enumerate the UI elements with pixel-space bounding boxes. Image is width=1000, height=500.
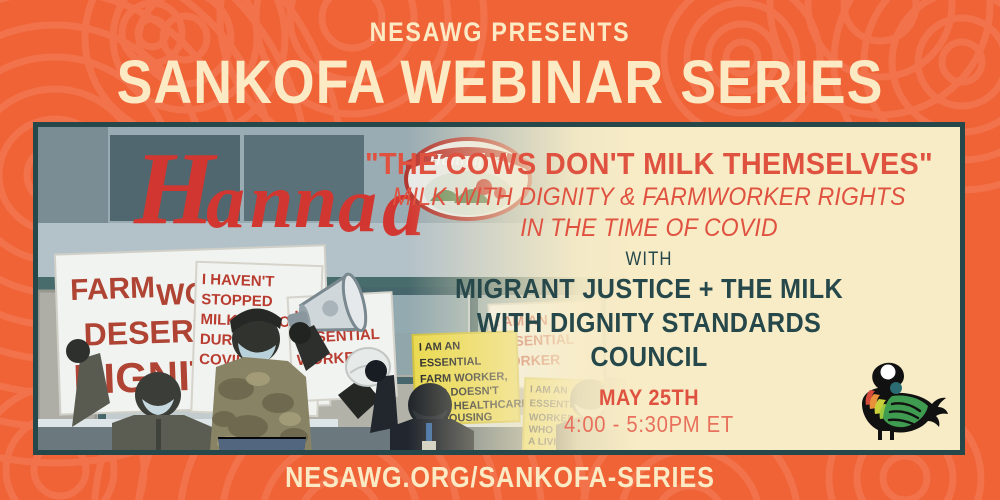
poster-footer: NESAWG.ORG/SANKOFA-SERIES — [0, 455, 1000, 500]
event-subtitle-line-1: MILK WITH DIGNITY & FARMWORKER RIGHTS — [363, 181, 935, 212]
poster-header: NESAWG PRESENTS SANKOFA WEBINAR SERIES — [0, 0, 1000, 120]
presenter-line-3: COUNCIL — [369, 338, 929, 372]
sankofa-bird-icon — [848, 352, 948, 444]
event-title: "THE COWS DON'T MILK THEMSELVES" — [360, 127, 938, 181]
event-time: 4:00 - 5:30PM ET — [375, 410, 922, 437]
content-frame: H a n n a d Hannaford — [33, 122, 965, 455]
presents-line: NESAWG PRESENTS — [70, 0, 930, 47]
webinar-promo-poster: NESAWG PRESENTS SANKOFA WEBINAR SERIES — [0, 0, 1000, 500]
event-date: MAY 25TH — [369, 372, 929, 410]
event-subtitle-line-2: IN THE TIME OF COVID — [363, 212, 935, 243]
content-panel: H a n n a d Hannaford — [38, 127, 960, 450]
with-label: WITH — [375, 243, 922, 270]
footer-url[interactable]: NESAWG.ORG/SANKOFA-SERIES — [65, 455, 935, 494]
series-title: SANKOFA WEBINAR SERIES — [60, 47, 940, 114]
presenter-line-1: MIGRANT JUSTICE + THE MILK — [369, 270, 929, 304]
presenter-line-2: WITH DIGNITY STANDARDS — [369, 304, 929, 338]
